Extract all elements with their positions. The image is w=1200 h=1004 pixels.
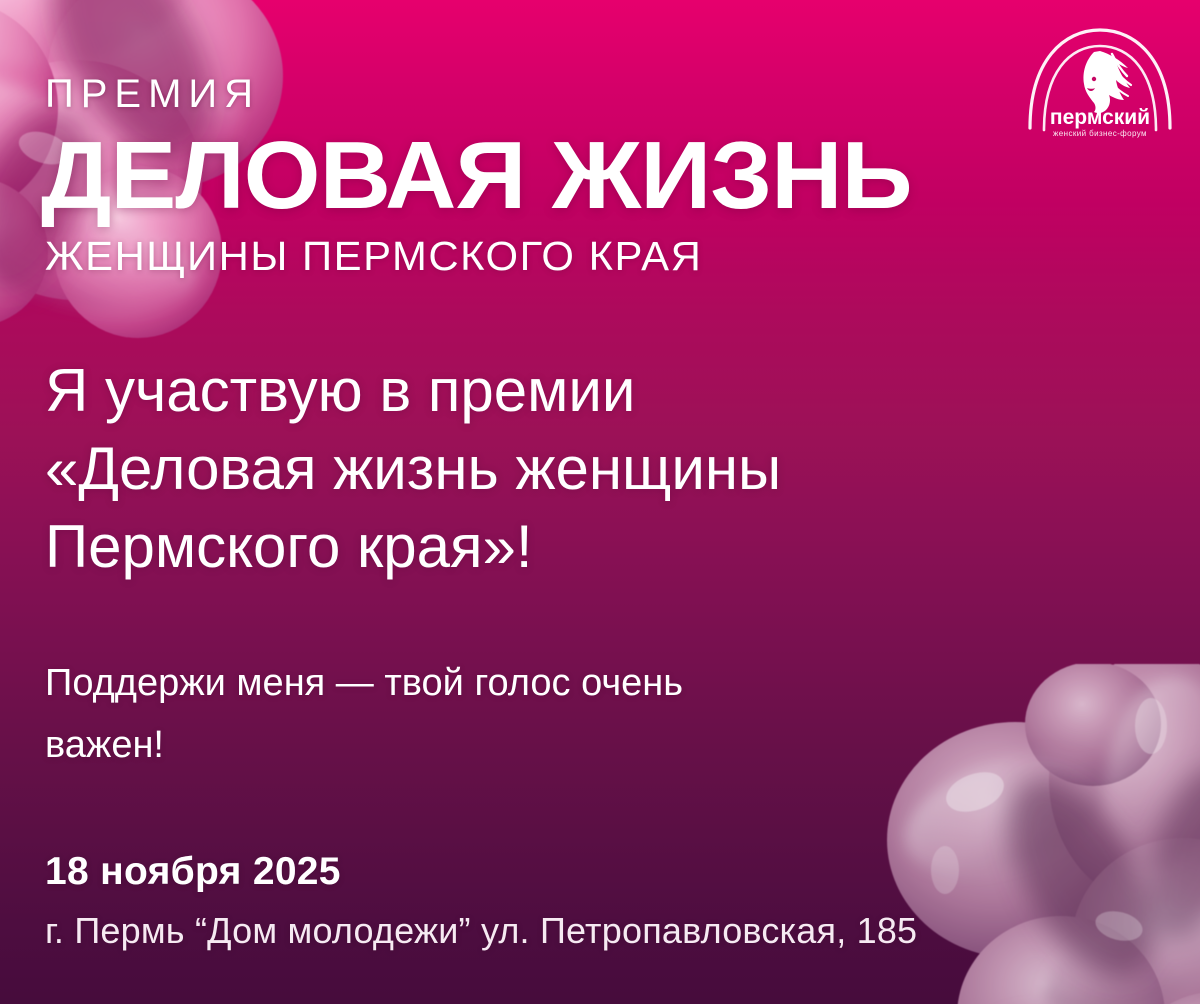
award-subheadline: ЖЕНЩИНЫ ПЕРМСКОГО КРАЯ xyxy=(45,236,702,277)
support-call-to-action: Поддержи меня — твой голос очень важен! xyxy=(45,653,1045,776)
support-line-2: важен! xyxy=(45,715,1045,777)
support-line-1: Поддержи меня — твой голос очень xyxy=(45,653,1045,715)
participation-line-2: «Деловая жизнь женщины xyxy=(45,430,1135,508)
participation-line-1: Я участвую в премии xyxy=(45,352,1135,430)
award-headline: ДЕЛОВАЯ ЖИЗНЬ xyxy=(41,128,912,224)
participation-statement: Я участвую в премии «Деловая жизнь женщи… xyxy=(45,352,1135,586)
event-venue-address: г. Пермь “Дом молодежи” ул. Петропавловс… xyxy=(45,913,917,949)
event-date: 18 ноября 2025 xyxy=(45,852,341,891)
award-kicker: ПРЕМИЯ xyxy=(45,74,260,114)
poster-content: ПРЕМИЯ ДЕЛОВАЯ ЖИЗНЬ ЖЕНЩИНЫ ПЕРМСКОГО К… xyxy=(45,0,1155,1004)
promo-poster: пермский женский бизнес-форум ПРЕМИЯ ДЕЛ… xyxy=(0,0,1200,1004)
participation-line-3: Пермского края»! xyxy=(45,508,1135,586)
